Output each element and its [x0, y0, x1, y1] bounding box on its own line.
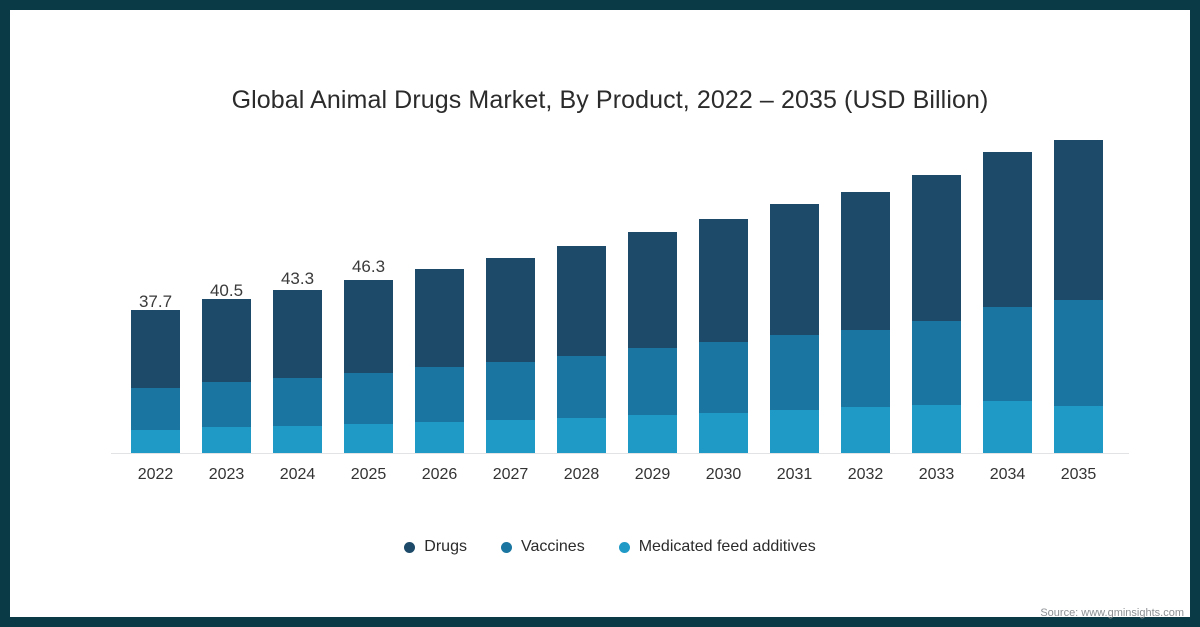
- legend-item-2[interactable]: Medicated feed additives: [619, 538, 816, 556]
- bar-segment-vaccines: [770, 335, 819, 410]
- bar-2026: [415, 269, 464, 453]
- bar-segment-additives: [557, 418, 606, 453]
- legend-label: Vaccines: [521, 538, 585, 556]
- bar-segment-additives: [131, 430, 180, 453]
- source-note: Source: www.gminsights.com: [1040, 607, 1184, 619]
- bar-segment-additives: [273, 426, 322, 453]
- bar-segment-additives: [770, 410, 819, 453]
- bar-segment-vaccines: [415, 367, 464, 422]
- bar-2031: [770, 204, 819, 453]
- plot-area: 37.7202240.5202343.3202446.3202520262027…: [20, 20, 1200, 627]
- bar-2022: [131, 310, 180, 453]
- bar-segment-vaccines: [628, 348, 677, 415]
- bar-segment-additives: [344, 424, 393, 453]
- bar-segment-vaccines: [1054, 300, 1103, 406]
- bar-segment-drugs: [912, 175, 961, 321]
- bar-segment-additives: [415, 422, 464, 453]
- legend-label: Drugs: [424, 538, 467, 556]
- legend-label: Medicated feed additives: [639, 538, 816, 556]
- legend-dot-icon: [619, 542, 630, 553]
- x-tick-label-2035: 2035: [1034, 466, 1124, 484]
- bar-2023: [202, 299, 251, 453]
- chart-frame: Global Animal Drugs Market, By Product, …: [0, 0, 1200, 627]
- bar-segment-vaccines: [557, 356, 606, 418]
- bar-2025: [344, 280, 393, 453]
- bar-segment-drugs: [486, 258, 535, 362]
- bar-2032: [841, 192, 890, 453]
- bar-segment-vaccines: [486, 362, 535, 420]
- bar-2033: [912, 175, 961, 453]
- legend-dot-icon: [404, 542, 415, 553]
- bar-segment-additives: [912, 405, 961, 453]
- bar-segment-vaccines: [841, 330, 890, 407]
- bar-2027: [486, 258, 535, 453]
- bar-segment-drugs: [557, 246, 606, 356]
- chart-canvas: Global Animal Drugs Market, By Product, …: [20, 20, 1200, 627]
- legend-item-1[interactable]: Vaccines: [501, 538, 585, 556]
- bar-segment-additives: [1054, 406, 1103, 453]
- chart-legend: DrugsVaccinesMedicated feed additives: [20, 538, 1200, 556]
- bar-segment-drugs: [202, 299, 251, 382]
- bar-2035: [1054, 140, 1103, 453]
- bar-2029: [628, 232, 677, 453]
- bar-segment-drugs: [273, 290, 322, 378]
- legend-dot-icon: [501, 542, 512, 553]
- bar-segment-vaccines: [699, 342, 748, 413]
- bar-segment-drugs: [841, 192, 890, 330]
- bar-segment-drugs: [131, 310, 180, 388]
- bar-segment-vaccines: [983, 307, 1032, 401]
- bar-2030: [699, 219, 748, 453]
- legend-item-0[interactable]: Drugs: [404, 538, 467, 556]
- bar-segment-drugs: [983, 152, 1032, 307]
- bar-segment-additives: [202, 427, 251, 453]
- bar-2028: [557, 246, 606, 453]
- bar-segment-vaccines: [912, 321, 961, 405]
- bar-segment-additives: [699, 413, 748, 453]
- x-axis-line: [111, 453, 1129, 454]
- bar-segment-additives: [983, 401, 1032, 453]
- bar-2034: [983, 152, 1032, 453]
- bar-segment-drugs: [628, 232, 677, 348]
- bar-segment-additives: [628, 415, 677, 453]
- bar-segment-drugs: [415, 269, 464, 367]
- bar-segment-additives: [486, 420, 535, 453]
- bar-segment-additives: [841, 407, 890, 453]
- bar-segment-vaccines: [273, 378, 322, 426]
- bar-segment-vaccines: [131, 388, 180, 430]
- bar-segment-vaccines: [344, 373, 393, 424]
- bar-segment-drugs: [770, 204, 819, 335]
- bar-segment-drugs: [344, 280, 393, 373]
- bar-segment-drugs: [699, 219, 748, 342]
- bar-segment-vaccines: [202, 382, 251, 427]
- bar-2024: [273, 290, 322, 453]
- bar-value-label-2025: 46.3: [324, 257, 414, 277]
- bar-segment-drugs: [1054, 140, 1103, 300]
